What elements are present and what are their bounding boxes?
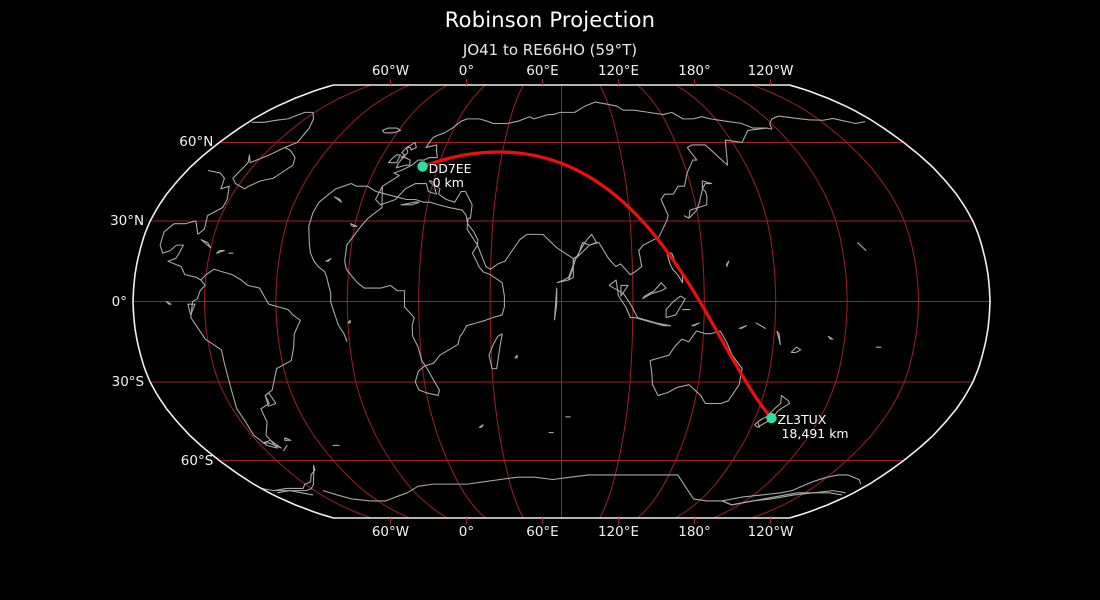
lon-label-bottom: 60°W xyxy=(372,524,409,540)
lon-label-bottom: 120°W xyxy=(748,524,794,540)
world-map[interactable] xyxy=(0,0,1100,600)
station-marker[interactable] xyxy=(766,413,776,423)
lat-label: 30°N xyxy=(0,213,144,229)
lon-label-bottom: 180° xyxy=(678,524,711,540)
lon-label-bottom: 120°E xyxy=(598,524,639,540)
lon-label-top: 120°E xyxy=(598,63,639,79)
station-marker[interactable] xyxy=(417,161,427,171)
lon-label-top: 120°W xyxy=(748,63,794,79)
lon-label-top: 60°W xyxy=(372,63,409,79)
lat-label: 60°S xyxy=(0,453,213,469)
map-viewer: Robinson Projection JO41 to RE66HO (59°T… xyxy=(0,0,1100,600)
great-circle-path[interactable] xyxy=(423,152,772,418)
station-distance: 18,491 km xyxy=(781,427,848,441)
lat-label: 60°N xyxy=(0,134,213,150)
lat-label: 30°S xyxy=(0,374,144,390)
lat-label: 0° xyxy=(0,294,127,310)
graticule xyxy=(133,85,990,518)
station-label: DD7EE0 km xyxy=(429,162,472,190)
station-label: ZL3TUX18,491 km xyxy=(777,413,848,441)
station-distance: 0 km xyxy=(433,176,472,190)
lon-label-top: 60°E xyxy=(526,63,558,79)
lon-label-bottom: 0° xyxy=(459,524,474,540)
lon-label-top: 180° xyxy=(678,63,711,79)
lon-label-bottom: 60°E xyxy=(526,524,558,540)
station-markers[interactable] xyxy=(417,161,776,423)
station-callsign: DD7EE xyxy=(429,162,472,176)
lon-label-top: 0° xyxy=(459,63,474,79)
